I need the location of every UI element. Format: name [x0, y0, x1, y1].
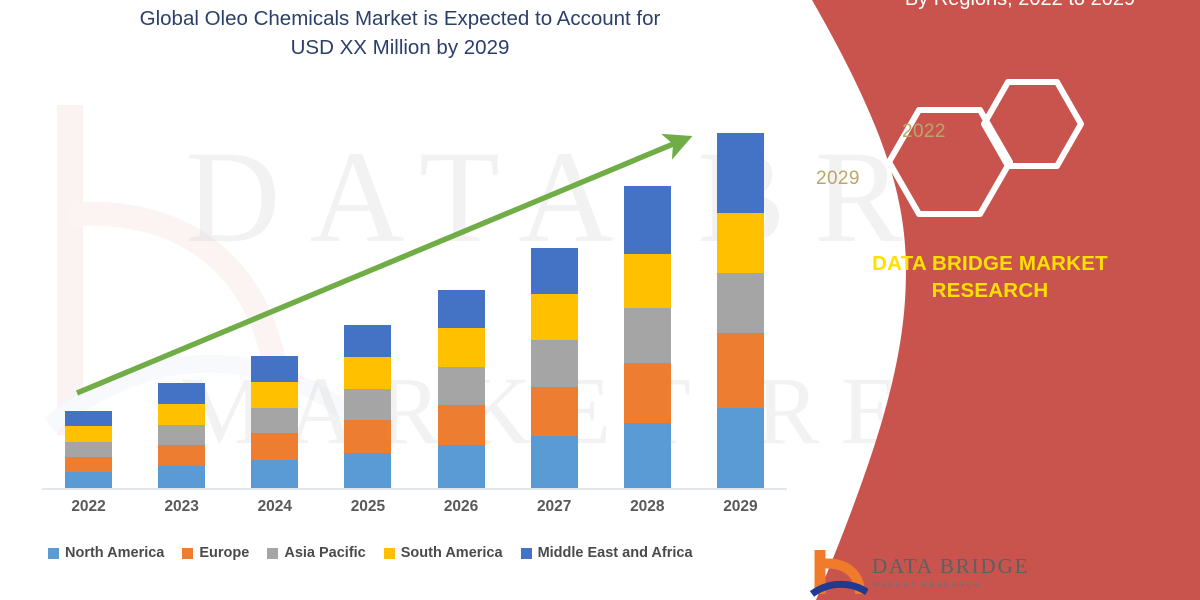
- x-axis-label-2024: 2024: [245, 498, 305, 516]
- bar-segment[interactable]: [438, 367, 485, 405]
- bar-series-container: [42, 60, 787, 488]
- bar-segment[interactable]: [717, 213, 764, 273]
- bar-group-2026[interactable]: [438, 290, 485, 488]
- bar-segment[interactable]: [65, 472, 112, 488]
- bar-group-2023[interactable]: [158, 383, 205, 488]
- bar-group-2028[interactable]: [624, 186, 671, 488]
- x-axis-label-2029: 2029: [710, 498, 770, 516]
- legend-item-4[interactable]: Middle East and Africa: [521, 545, 693, 561]
- footer-logo-subtext: MARKET RESEARCH: [872, 580, 982, 589]
- bar-segment[interactable]: [251, 408, 298, 433]
- bar-segment[interactable]: [624, 423, 671, 488]
- legend-item-3[interactable]: South America: [384, 545, 503, 561]
- bar-segment[interactable]: [65, 426, 112, 442]
- brand-name: DATA BRIDGE MARKET RESEARCH: [820, 250, 1160, 304]
- bar-segment[interactable]: [344, 325, 391, 357]
- footer-logo: DATA BRIDGE MARKET RESEARCH: [810, 548, 1140, 600]
- hexagon-2022-label: 2022: [902, 121, 946, 143]
- footer-logo-text: DATA BRIDGE: [872, 554, 1029, 579]
- infographic-canvas: DATA BRIDGE MARKET RESEARCH Global Oleo …: [0, 0, 1200, 600]
- bridge-logo-icon: [810, 548, 868, 598]
- bar-group-2029[interactable]: [717, 133, 764, 488]
- page-title-line-2: USD XX Million by 2029: [60, 33, 740, 62]
- bar-segment[interactable]: [344, 357, 391, 389]
- bar-segment[interactable]: [251, 460, 298, 488]
- legend-item-2[interactable]: Asia Pacific: [267, 545, 365, 561]
- bar-segment[interactable]: [531, 248, 578, 294]
- chart-legend: North AmericaEuropeAsia PacificSouth Ame…: [48, 540, 788, 566]
- legend-label: Middle East and Africa: [538, 545, 693, 561]
- bar-segment[interactable]: [438, 290, 485, 328]
- legend-swatch-icon: [521, 548, 532, 559]
- hexagon-2029-label: 2029: [816, 168, 860, 190]
- bar-segment[interactable]: [158, 383, 205, 404]
- legend-swatch-icon: [182, 548, 193, 559]
- page-title: Global Oleo Chemicals Market is Expected…: [60, 4, 740, 62]
- bar-segment[interactable]: [251, 433, 298, 460]
- bar-segment[interactable]: [624, 254, 671, 308]
- x-axis-label-2028: 2028: [617, 498, 677, 516]
- bar-segment[interactable]: [65, 457, 112, 472]
- x-axis-label-2026: 2026: [431, 498, 491, 516]
- bar-segment[interactable]: [251, 356, 298, 382]
- bar-segment[interactable]: [531, 340, 578, 387]
- x-axis-label-2025: 2025: [338, 498, 398, 516]
- panel-title: By Regions, 2022 to 2029: [840, 0, 1200, 12]
- bar-group-2025[interactable]: [344, 325, 391, 488]
- bar-segment[interactable]: [717, 273, 764, 333]
- bar-segment[interactable]: [438, 405, 485, 445]
- bar-segment[interactable]: [158, 445, 205, 466]
- bar-segment[interactable]: [344, 420, 391, 453]
- bar-segment[interactable]: [344, 453, 391, 488]
- bar-group-2027[interactable]: [531, 248, 578, 488]
- right-brand-panel: By Regions, 2022 to 2029 2029 2022 DATA …: [780, 0, 1200, 600]
- legend-label: Europe: [199, 545, 249, 561]
- stacked-bar-chart: [0, 60, 800, 490]
- legend-item-1[interactable]: Europe: [182, 545, 249, 561]
- bar-segment[interactable]: [251, 382, 298, 408]
- bar-segment[interactable]: [438, 328, 485, 367]
- bar-segment[interactable]: [717, 408, 764, 488]
- brand-line-1: DATA BRIDGE MARKET: [820, 250, 1160, 277]
- bar-segment[interactable]: [438, 445, 485, 488]
- hexagon-2022: [984, 82, 1081, 166]
- bar-segment[interactable]: [344, 389, 391, 420]
- bar-group-2024[interactable]: [251, 356, 298, 488]
- bar-segment[interactable]: [624, 363, 671, 423]
- bar-segment[interactable]: [531, 436, 578, 488]
- bar-segment[interactable]: [531, 294, 578, 340]
- legend-label: South America: [401, 545, 503, 561]
- page-title-line-1: Global Oleo Chemicals Market is Expected…: [60, 4, 740, 33]
- x-axis-labels: 20222023202420252026202720282029: [42, 498, 787, 524]
- bar-segment[interactable]: [158, 404, 205, 425]
- bar-segment[interactable]: [531, 387, 578, 436]
- x-axis-label-2023: 2023: [152, 498, 212, 516]
- legend-label: Asia Pacific: [284, 545, 365, 561]
- bar-segment[interactable]: [65, 442, 112, 457]
- bar-segment[interactable]: [65, 411, 112, 426]
- bar-segment[interactable]: [624, 186, 671, 254]
- bar-group-2022[interactable]: [65, 411, 112, 488]
- x-axis-label-2022: 2022: [59, 498, 119, 516]
- legend-swatch-icon: [384, 548, 395, 559]
- legend-swatch-icon: [267, 548, 278, 559]
- x-axis-label-2027: 2027: [524, 498, 584, 516]
- legend-swatch-icon: [48, 548, 59, 559]
- hexagon-pair-graphic: [875, 78, 1125, 228]
- bar-segment[interactable]: [158, 466, 205, 488]
- legend-label: North America: [65, 545, 164, 561]
- panel-title-line-1: By Regions, 2022 to 2029: [840, 0, 1200, 12]
- x-axis-line: [42, 488, 787, 490]
- bar-segment[interactable]: [717, 133, 764, 213]
- brand-line-2: RESEARCH: [820, 277, 1160, 304]
- bar-segment[interactable]: [717, 333, 764, 408]
- legend-item-0[interactable]: North America: [48, 545, 164, 561]
- bar-segment[interactable]: [624, 308, 671, 363]
- bar-segment[interactable]: [158, 425, 205, 445]
